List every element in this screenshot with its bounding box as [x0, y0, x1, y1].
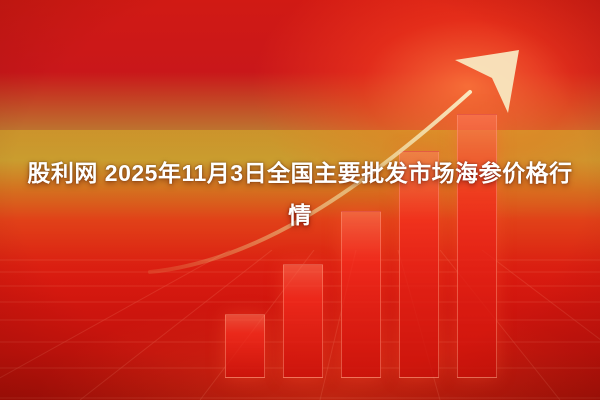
headline-text: 股利网 2025年11月3日全国主要批发市场海参价格行情 [27, 160, 572, 228]
page-title: 股利网 2025年11月3日全国主要批发市场海参价格行情 [0, 152, 600, 236]
banner-canvas: 股利网 2025年11月3日全国主要批发市场海参价格行情 [0, 0, 600, 400]
